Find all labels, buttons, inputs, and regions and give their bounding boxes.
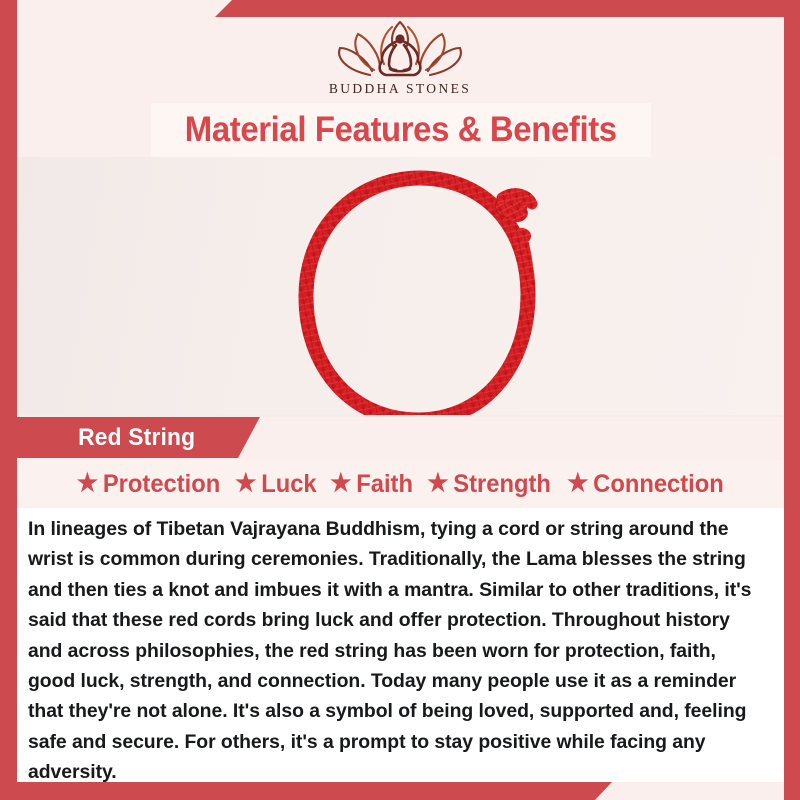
- feature-item-protection: ★ Protection: [77, 470, 220, 499]
- red-string-bracelet-image: [270, 162, 570, 415]
- feature-item-luck: ★ Luck: [235, 470, 316, 499]
- feature-label: Strength: [453, 470, 551, 499]
- star-icon: ★: [567, 471, 588, 496]
- product-image-area: [17, 157, 784, 415]
- star-icon: ★: [330, 471, 351, 496]
- brand-name: BUDDHA STONES: [329, 81, 471, 97]
- feature-label: Protection: [103, 470, 220, 499]
- description-text: In lineages of Tibetan Vajrayana Buddhis…: [28, 514, 767, 788]
- lotus-meditation-icon: [334, 18, 466, 80]
- star-icon: ★: [427, 471, 448, 496]
- description-block: In lineages of Tibetan Vajrayana Buddhis…: [17, 508, 784, 782]
- feature-item-strength: ★ Strength: [427, 470, 551, 499]
- feature-label: Connection: [593, 470, 724, 499]
- material-name: Red String: [78, 424, 195, 452]
- star-icon: ★: [235, 471, 256, 496]
- feature-label: Faith: [356, 470, 413, 499]
- feature-item-connection: ★ Connection: [567, 470, 724, 499]
- feature-item-faith: ★ Faith: [330, 470, 413, 499]
- feature-label: Luck: [261, 470, 316, 499]
- frame-band-top: [215, 0, 800, 17]
- ribbon-separator: [17, 415, 784, 417]
- star-icon: ★: [77, 471, 98, 496]
- frame-band-right: [784, 0, 800, 800]
- frame-band-left: [0, 0, 17, 800]
- material-ribbon: Red String: [17, 417, 260, 458]
- page-title: Material Features & Benefits: [185, 110, 617, 150]
- brand-logo: BUDDHA STONES: [0, 18, 800, 100]
- infographic-page: BUDDHA STONES Material Features & Benefi…: [0, 0, 800, 800]
- page-title-band: Material Features & Benefits: [151, 103, 651, 157]
- feature-list: ★ Protection ★ Luck ★ Faith ★ Strength ★…: [17, 460, 784, 508]
